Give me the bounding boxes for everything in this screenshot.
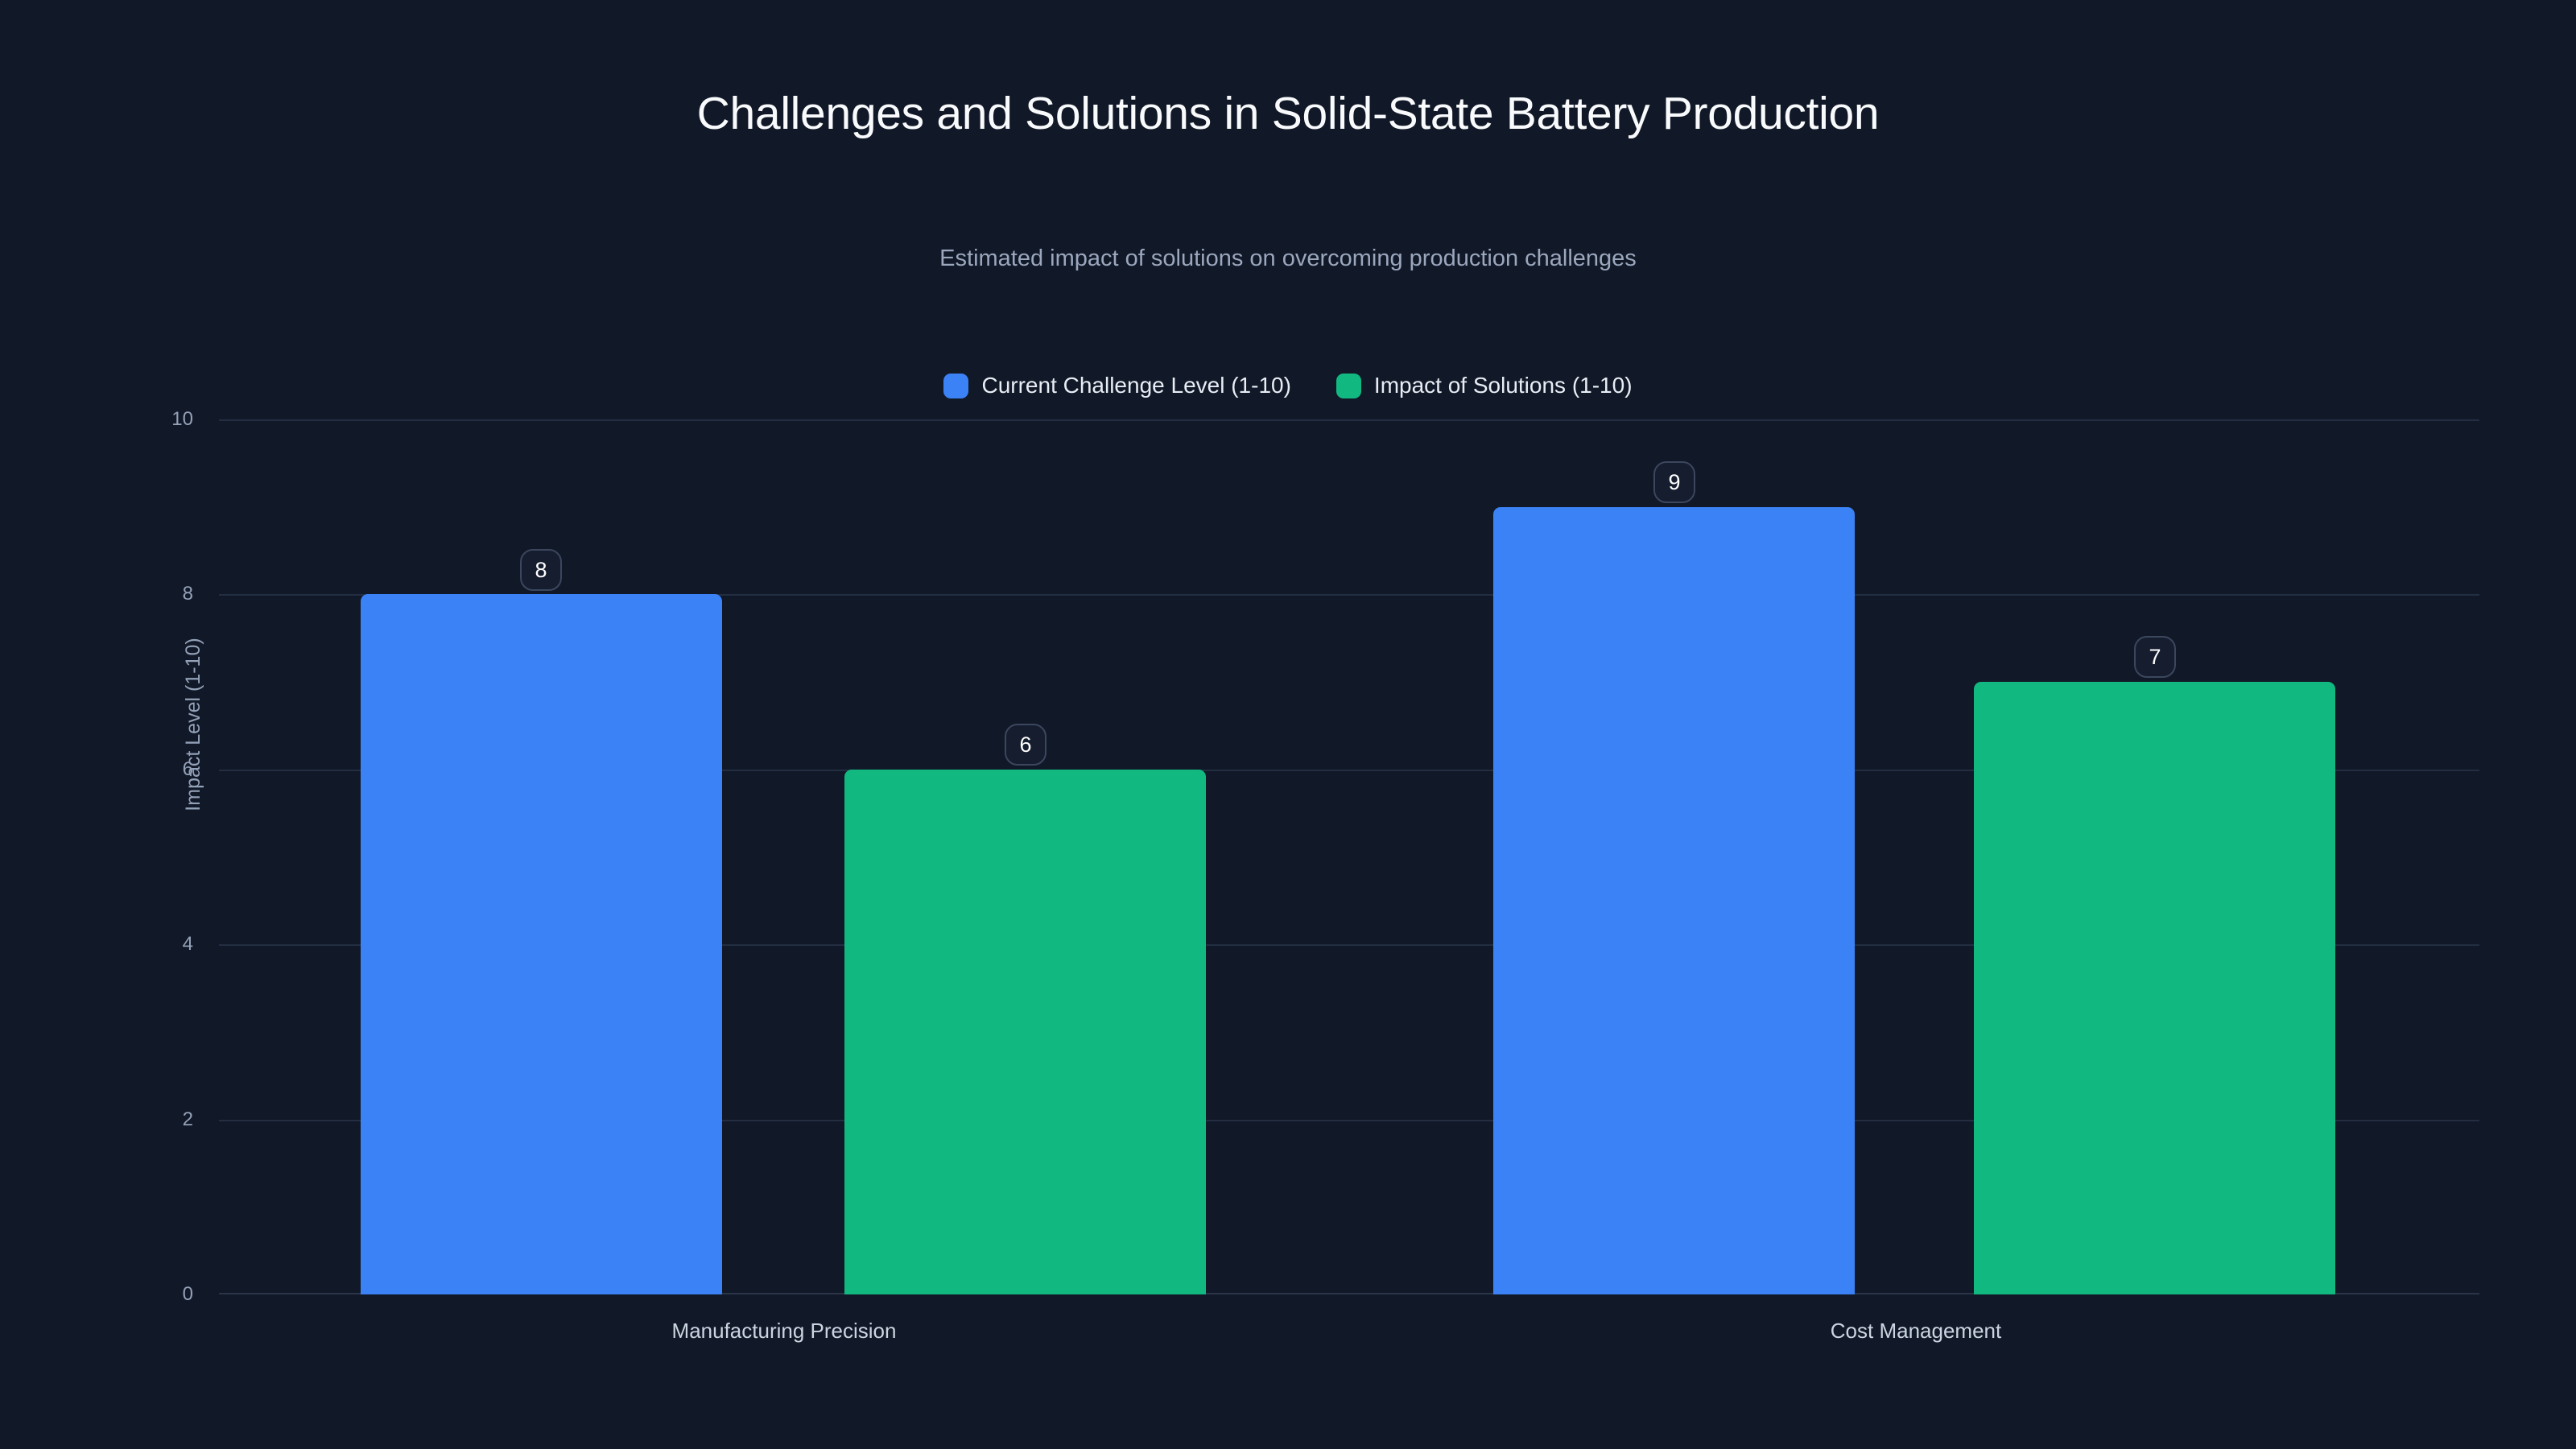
- y-axis-tick-label: 0: [97, 1283, 193, 1306]
- legend-item-label: Impact of Solutions (1-10): [1374, 373, 1633, 398]
- legend-item-impact-of-solutions[interactable]: Impact of Solutions (1-10): [1336, 373, 1633, 398]
- square-swatch-icon: [1336, 374, 1361, 398]
- y-axis-tick-label: 6: [97, 758, 193, 781]
- bar-value-label: 8: [520, 549, 562, 591]
- legend-item-label: Current Challenge Level (1-10): [981, 373, 1290, 398]
- bar-value-label: 9: [1653, 461, 1695, 503]
- bar-impact-solutions-cost-management[interactable]: [1974, 682, 2335, 1294]
- y-axis-title: Impact Level (1-10): [182, 638, 205, 811]
- bar-impact-solutions-manufacturing-precision[interactable]: [844, 770, 1206, 1294]
- square-swatch-icon: [943, 374, 968, 398]
- chart-subtitle: Estimated impact of solutions on overcom…: [0, 246, 2576, 272]
- chart-legend: Current Challenge Level (1-10) Impact of…: [0, 373, 2576, 398]
- legend-item-current-challenge-level[interactable]: Current Challenge Level (1-10): [943, 373, 1290, 398]
- y-axis-tick-label: 10: [97, 408, 193, 431]
- y-axis-tick-label: 8: [97, 583, 193, 605]
- bar-value-label: 7: [2134, 636, 2176, 678]
- x-axis-tick-label-cost-management: Cost Management: [1831, 1319, 2001, 1344]
- x-axis-tick-label-manufacturing-precision: Manufacturing Precision: [672, 1319, 897, 1344]
- bar-chart-figure: Challenges and Solutions in Solid-State …: [0, 0, 2576, 1449]
- bar-value-label: 6: [1005, 724, 1046, 766]
- gridline: [219, 419, 2479, 421]
- bar-current-challenge-manufacturing-precision[interactable]: [361, 594, 722, 1294]
- bar-current-challenge-cost-management[interactable]: [1493, 507, 1855, 1294]
- y-axis-tick-label: 4: [97, 933, 193, 956]
- plot-area: 10 8 6 4 2 0 8 6 9 7 Manufacturing Preci…: [219, 419, 2479, 1294]
- y-axis-tick-label: 2: [97, 1108, 193, 1131]
- page-title: Challenges and Solutions in Solid-State …: [0, 87, 2576, 140]
